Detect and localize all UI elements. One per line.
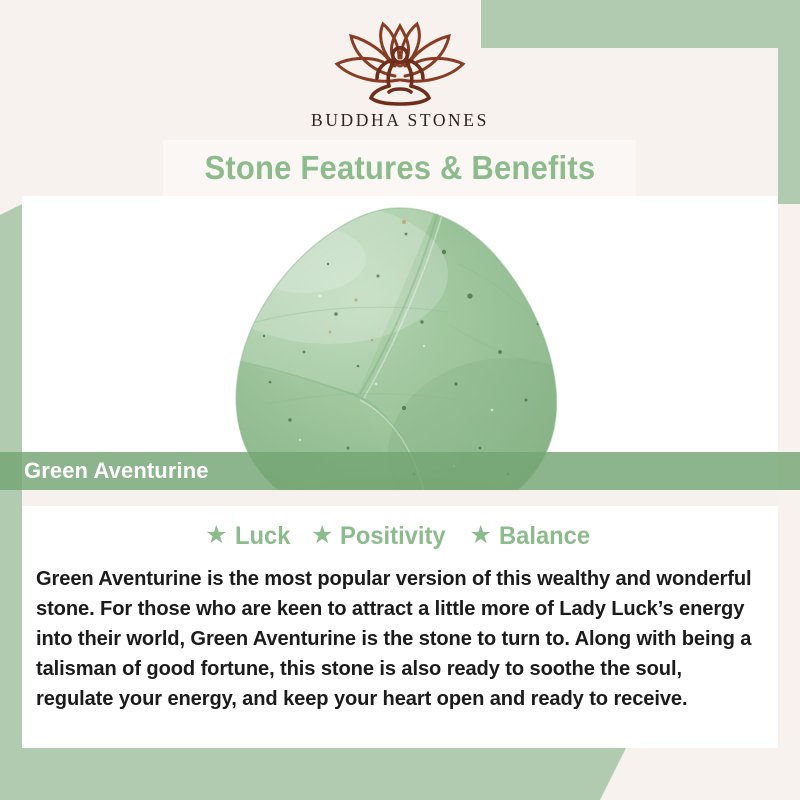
separator-strip	[22, 490, 778, 506]
benefit-item-positivity: ★ Positivity	[311, 522, 452, 551]
stone-name-banner: Green Aventurine	[0, 452, 800, 490]
corner-frame-left-edge	[0, 204, 22, 784]
star-icon: ★	[205, 523, 227, 548]
stone-description: Green Aventurine is the most popular ver…	[36, 564, 753, 714]
benefits-row: ★ Luck ★ Positivity ★ Balance	[36, 516, 764, 556]
content-panel: ★ Luck ★ Positivity ★ Balance Green Aven…	[22, 506, 778, 748]
stone-photo	[22, 196, 778, 492]
star-icon: ★	[311, 523, 333, 548]
lotus-meditation-icon	[315, 18, 485, 106]
benefit-item-luck: ★ Luck	[205, 522, 293, 551]
benefit-item-balance: ★ Balance	[470, 522, 595, 551]
benefit-label: Luck	[235, 522, 290, 551]
title-band: Stone Features & Benefits	[163, 140, 636, 196]
star-icon: ★	[470, 523, 492, 548]
stone-name-label: Green Aventurine	[24, 458, 209, 484]
benefit-label: Positivity	[340, 522, 446, 551]
brand-header: BUDDHA STONES	[0, 0, 800, 140]
poster-canvas: BUDDHA STONES Stone Features & Benefits	[0, 0, 800, 800]
green-aventurine-stone-graphic	[208, 204, 592, 492]
corner-frame-bottom-bar	[0, 748, 600, 800]
stone-image	[208, 204, 592, 492]
brand-name: BUDDHA STONES	[311, 110, 489, 131]
page-title: Stone Features & Benefits	[204, 149, 595, 187]
benefit-label: Balance	[499, 522, 590, 551]
